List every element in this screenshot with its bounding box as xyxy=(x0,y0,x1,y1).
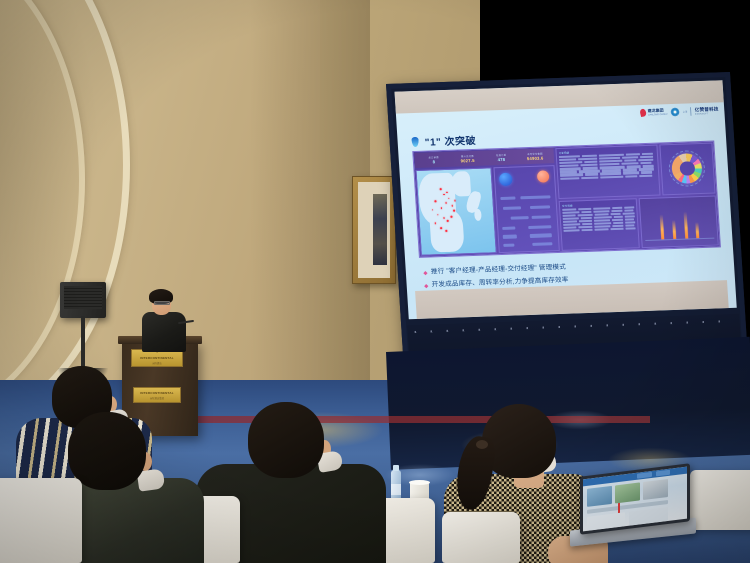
wall-shading xyxy=(0,0,100,410)
cup-rim xyxy=(409,480,430,485)
slide-logos: 建龙集团 JIANLONG GROUP 上海 亿赞普科技 ESENSOFT xyxy=(639,105,718,117)
presenter xyxy=(138,288,194,350)
map-dot xyxy=(440,189,442,191)
media-thumbnail xyxy=(615,482,640,503)
conference-room-photo: 建龙集团 JIANLONG GROUP 上海 亿赞普科技 ESENSOFT "1… xyxy=(0,0,750,563)
audience-black-shirt xyxy=(226,402,376,563)
dashboard-map-row xyxy=(415,165,559,256)
map-dot xyxy=(451,216,453,218)
dashboard-right-top: 订单明细 xyxy=(555,143,715,199)
speaker-grill xyxy=(64,286,102,309)
bullet-diamond-icon xyxy=(423,271,427,275)
flow-node-primary xyxy=(499,173,513,186)
bar xyxy=(684,212,689,239)
bar xyxy=(660,214,665,239)
hair-tie-icon xyxy=(476,440,488,449)
dashboard-screenshot: 总订单量 8 累计交付量 9027.5 在途订单 478 本月交付金额 xyxy=(412,141,721,258)
kpi-value: 478 xyxy=(485,156,517,162)
flow-chip xyxy=(528,225,552,229)
kpi-value: 9027.5 xyxy=(452,158,484,164)
dashboard-left-column: 总订单量 8 累计交付量 9027.5 在途订单 478 本月交付金额 xyxy=(414,148,560,256)
table-body xyxy=(559,153,656,180)
map-dot xyxy=(451,205,453,207)
pa-speaker-icon xyxy=(60,282,106,318)
geo-map-panel xyxy=(415,167,497,255)
flow-chip xyxy=(520,195,551,199)
media-thumbnail xyxy=(643,479,668,500)
kpi-card: 本月交付金额 54903.6 xyxy=(519,151,551,161)
flow-node-secondary xyxy=(537,171,550,183)
laptop xyxy=(570,470,696,550)
node-flow-panel xyxy=(494,165,560,253)
map-dot xyxy=(453,210,455,212)
bottle-label xyxy=(391,484,401,495)
flow-chip xyxy=(500,196,516,200)
kpi-card: 累计交付量 9027.5 xyxy=(451,154,483,164)
flow-chip xyxy=(532,215,551,219)
bar xyxy=(695,222,699,239)
table-body xyxy=(562,206,635,232)
landmass xyxy=(451,171,472,197)
kpi-value: 54903.6 xyxy=(519,155,551,161)
plaque-title: INTERCONTINENTAL xyxy=(140,356,173,360)
map-dot xyxy=(440,207,442,209)
map-dot xyxy=(447,220,449,222)
playhead-icon xyxy=(618,503,620,513)
donut-chart-panel xyxy=(659,143,715,195)
chair xyxy=(0,478,82,563)
kpi-card: 总订单量 8 xyxy=(418,155,450,165)
flow-chip xyxy=(503,243,515,247)
map-dot xyxy=(440,227,442,229)
dashboard-right-column: 订单明细 xyxy=(555,143,718,251)
plaque-subtitle: 洲际酒店集团 xyxy=(150,396,164,400)
bottle-cap xyxy=(393,465,399,471)
map-dot xyxy=(435,201,437,203)
panel xyxy=(629,507,669,526)
logo-a-sub: JIANLONG GROUP xyxy=(648,113,668,116)
presenter-body xyxy=(142,312,186,352)
art-mat xyxy=(358,182,390,278)
logo-divider xyxy=(690,107,691,116)
flow-chip xyxy=(530,205,550,209)
jianlong-mark-icon xyxy=(639,108,647,117)
dashboard-right-bottom: 交付明细 xyxy=(559,195,719,251)
table-panel-bottom: 交付明细 xyxy=(559,198,640,251)
table-panel-top: 订单明细 xyxy=(555,145,660,199)
panel xyxy=(587,512,624,531)
flow-chip xyxy=(532,242,552,246)
media-thumbnail xyxy=(587,486,612,507)
laptop-screen xyxy=(583,467,687,532)
glasses-icon xyxy=(154,301,170,305)
flow-chip xyxy=(530,233,553,237)
bullet-text: 推行 "客户经理-产品经理-交付经理" 管理模式 xyxy=(431,264,566,276)
kpi-card: 在途订单 478 xyxy=(485,152,517,162)
partner-gear-icon xyxy=(670,107,679,116)
kpi-value: 8 xyxy=(418,159,450,165)
partner-label: 上海 xyxy=(682,109,687,113)
plaque-title: INTERCONTINENTAL xyxy=(140,391,173,395)
bar xyxy=(672,220,676,239)
art-image xyxy=(373,194,386,265)
person-head xyxy=(68,412,146,490)
map-dot xyxy=(454,200,456,202)
flow-chip xyxy=(503,206,521,210)
flow-chip xyxy=(502,226,515,230)
person-head xyxy=(248,402,324,478)
logo-b-sub: ESENSOFT xyxy=(695,112,719,115)
flow-chip xyxy=(511,216,529,220)
slide-title-row: "1" 次突破 xyxy=(411,132,476,149)
projection-screen: 建龙集团 JIANLONG GROUP 上海 亿赞普科技 ESENSOFT "1… xyxy=(386,72,749,383)
chair xyxy=(690,470,750,530)
water-drop-icon xyxy=(411,136,419,146)
framed-wall-art xyxy=(352,176,396,284)
bar-chart-panel xyxy=(638,195,719,248)
logo-company-a: 建龙集团 JIANLONG GROUP xyxy=(640,108,668,117)
bullet-diamond-icon xyxy=(424,284,428,288)
flow-chip xyxy=(502,235,516,239)
chart-axis xyxy=(645,238,714,241)
plaque-subtitle: 洲际酒店 xyxy=(152,361,162,365)
presentation-slide: 建龙集团 JIANLONG GROUP 上海 亿赞普科技 ESENSOFT "1… xyxy=(395,80,737,319)
map-dot xyxy=(443,193,445,195)
page-title: "1" 次突破 xyxy=(424,132,476,149)
chair xyxy=(442,512,520,563)
map-dot xyxy=(446,230,448,232)
landmass xyxy=(474,209,481,221)
